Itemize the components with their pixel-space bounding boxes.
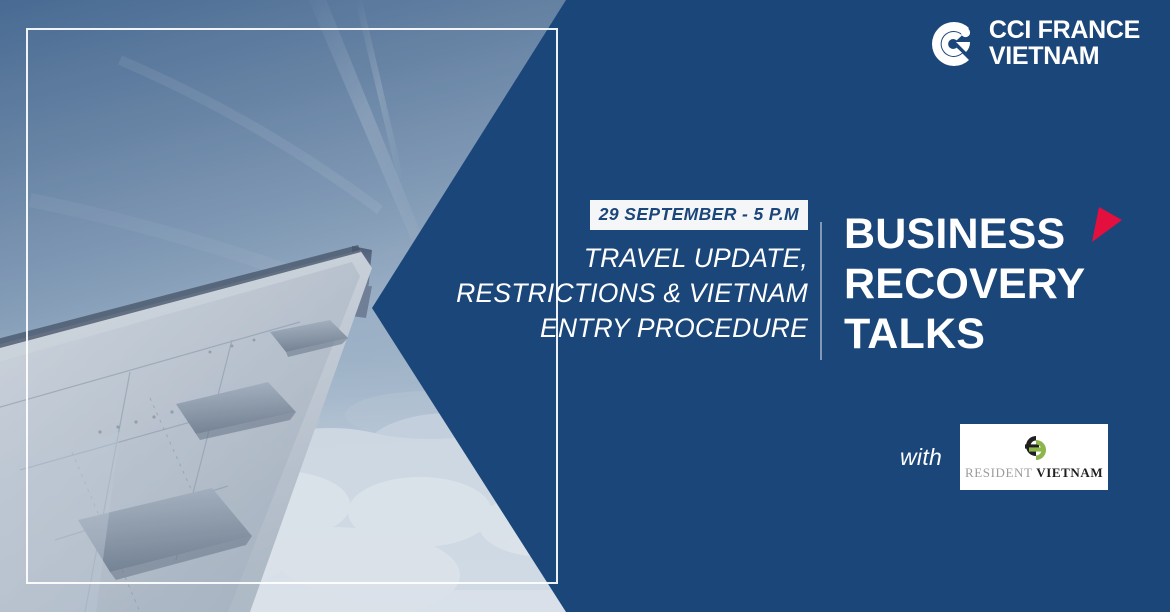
red-triangle-icon <box>1086 204 1126 246</box>
event-subtitle: TRAVEL UPDATE, RESTRICTIONS & VIETNAM EN… <box>418 241 808 347</box>
event-details-column: 29 SEPTEMBER - 5 P.M TRAVEL UPDATE, REST… <box>418 200 808 347</box>
headline-block: 29 SEPTEMBER - 5 P.M TRAVEL UPDATE, REST… <box>418 200 1118 360</box>
cci-circle-logo-icon <box>929 19 979 69</box>
resident-vietnam-logo[interactable]: RESIDENT VIETNAM <box>960 424 1108 490</box>
event-banner: CCI FRANCE VIETNAM 29 SEPTEMBER - 5 P.M … <box>0 0 1170 612</box>
resident-word-bold: VIETNAM <box>1036 465 1103 480</box>
resident-vietnam-monogram-icon <box>1010 433 1058 463</box>
partner-block: with RESIDENT VIETNAM <box>900 424 1108 490</box>
cci-france-vietnam-logo[interactable]: CCI FRANCE VIETNAM <box>929 18 1140 69</box>
vertical-divider <box>820 222 822 360</box>
with-label: with <box>900 444 942 471</box>
resident-word-light: RESIDENT <box>965 465 1036 480</box>
event-title: BUSINESS RECOVERY TALKS <box>844 210 1085 360</box>
cci-wordmark-line1: CCI FRANCE <box>989 18 1140 44</box>
event-date-badge: 29 SEPTEMBER - 5 P.M <box>590 200 808 230</box>
resident-vietnam-wordmark: RESIDENT VIETNAM <box>965 465 1103 481</box>
event-title-column: BUSINESS RECOVERY TALKS <box>844 200 1085 360</box>
cci-wordmark: CCI FRANCE VIETNAM <box>989 18 1140 69</box>
cci-wordmark-line2: VIETNAM <box>989 44 1140 70</box>
